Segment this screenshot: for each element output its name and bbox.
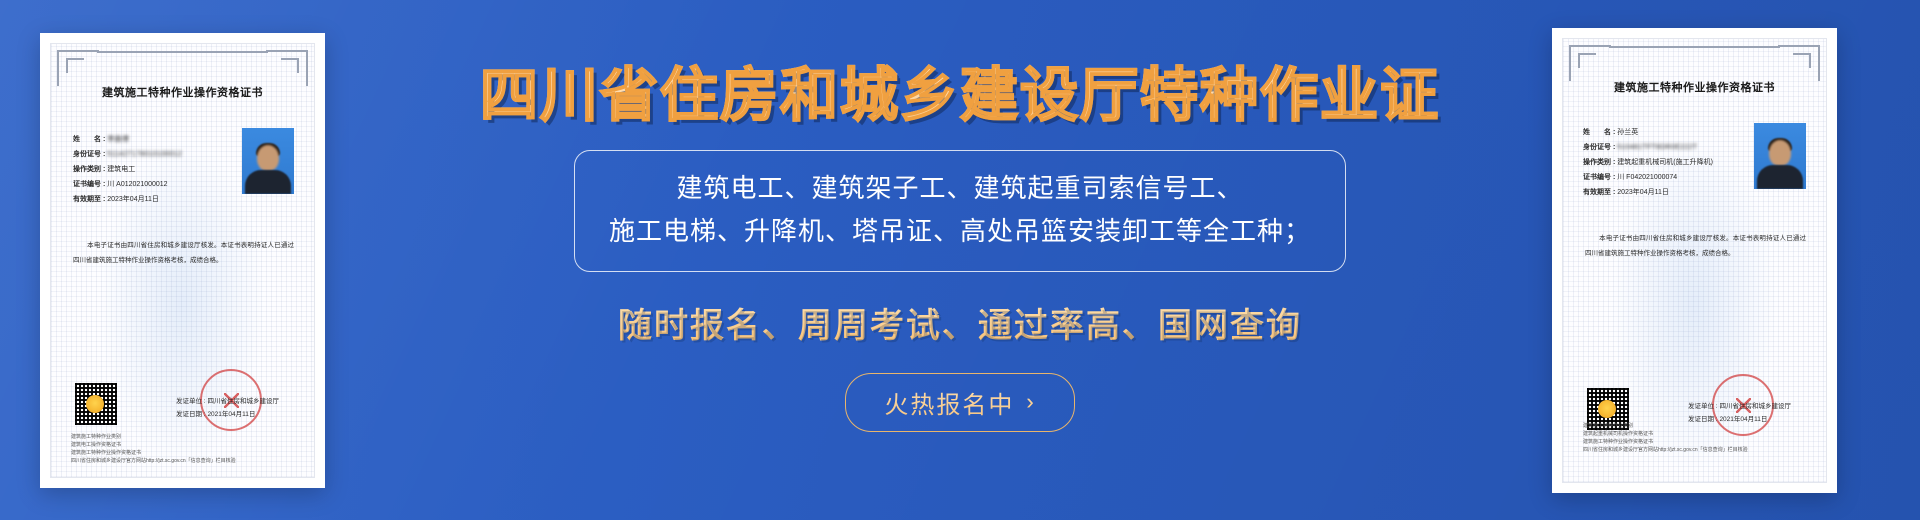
- certificate-inner-right: 建筑施工特种作业操作资格证书 姓 名 : 孙兰英 身份证号 : 510481TF…: [1562, 38, 1827, 483]
- field-label: 有效期至 :: [1583, 189, 1615, 196]
- footer-line: 建筑电工操作资格证书: [71, 441, 298, 449]
- course-list-box: 建筑电工、建筑架子工、建筑起重司索信号工、 施工电梯、升降机、塔吊证、高处吊篮安…: [574, 150, 1346, 272]
- slogan-text: 随时报名、周周考试、通过率高、国网查询: [618, 298, 1302, 347]
- photo-head: [1769, 140, 1791, 166]
- field-label: 有效期至 :: [73, 196, 105, 203]
- field-row: 操作类别 : 建筑电工: [73, 162, 223, 177]
- issue-date-row: 发证日期 : 2021年04月11日: [176, 408, 296, 421]
- certificate-card-right: 建筑施工特种作业操作资格证书 姓 名 : 孙兰英 身份证号 : 510481TF…: [1552, 28, 1837, 493]
- field-value: 2023年04月11日: [1617, 189, 1669, 196]
- field-label: 证书编号 :: [73, 181, 105, 188]
- certificate-fields-right: 姓 名 : 孙兰英 身份证号 : 510481TFT8DR0E222T 操作类别…: [1583, 125, 1738, 200]
- issuer-value: 四川省住房和城乡建设厅: [207, 398, 279, 405]
- field-value: 川 F042021000074: [1617, 174, 1677, 181]
- photo-body: [245, 170, 291, 194]
- footer-line: 建筑施工特种作业类别: [71, 433, 298, 441]
- certificate-disclaimer: 四川省住房和城乡建设厅官方网站http://jzt.sc.gov.cn「信息查询…: [1583, 446, 1810, 454]
- field-row: 姓 名 : 李曲律: [73, 132, 223, 147]
- certificate-issuer-left: 发证单位 : 四川省住房和城乡建设厅 发证日期 : 2021年04月11日: [176, 395, 296, 421]
- field-row: 操作类别 : 建筑起重机械司机(施工升降机): [1583, 155, 1738, 170]
- certificate-photo: [242, 128, 294, 194]
- ornament-corner-icon: [57, 50, 99, 86]
- field-label: 身份证号 :: [1583, 144, 1615, 151]
- certificate-paragraph-text: 本电子证书由四川省住房和城乡建设厅核发。本证书表明持证人已通过四川省建筑施工特种…: [73, 242, 294, 264]
- certificate-disclaimer: 四川省住房和城乡建设厅官方网站http://jzt.sc.gov.cn「信息查询…: [71, 457, 298, 465]
- banner-content: 四川省住房和城乡建设厅特种作业证 建筑电工、建筑架子工、建筑起重司索信号工、 施…: [360, 0, 1560, 520]
- footer-line: 建筑施工特种作业类别: [1583, 422, 1810, 430]
- certificate-footer-right: 建筑施工特种作业类别 建筑起重机械司机操作资格证书 建筑施工特种作业操作资格证书…: [1583, 422, 1810, 454]
- field-value: 510481TFT8DR0E222T: [1617, 144, 1697, 151]
- ornament-rule: [97, 51, 268, 53]
- field-label: 证书编号 :: [1583, 174, 1615, 181]
- certificate-paragraph-text: 本电子证书由四川省住房和城乡建设厅核发。本证书表明持证人已通过四川省建筑施工特种…: [1585, 235, 1806, 257]
- certificate-fields-left: 姓 名 : 李曲律 身份证号 : 511427178010100012 操作类别…: [73, 132, 223, 207]
- signup-cta-label: 火热报名中: [884, 385, 1014, 420]
- field-row: 身份证号 : 511427178010100012: [73, 147, 223, 162]
- certificate-title: 建筑施工特种作业操作资格证书: [1563, 79, 1826, 95]
- field-label: 身份证号 :: [73, 151, 105, 158]
- course-list-line: 施工电梯、升降机、塔吊证、高处吊篮安装卸工等全工种；: [609, 210, 1311, 253]
- photo-head: [257, 145, 279, 171]
- issuer-row: 发证单位 : 四川省住房和城乡建设厅: [1688, 400, 1808, 413]
- certificate-paragraph: 本电子证书由四川省住房和城乡建设厅核发。本证书表明持证人已通过四川省建筑施工特种…: [73, 239, 294, 269]
- field-label: 姓 名 :: [73, 136, 105, 143]
- certificate-card-left: 建筑施工特种作业操作资格证书 姓 名 : 李曲律 身份证号 : 51142717…: [40, 33, 325, 488]
- certificate-title: 建筑施工特种作业操作资格证书: [51, 84, 314, 100]
- ornament-corner-icon: [1778, 45, 1820, 81]
- ornament-corner-icon: [1569, 45, 1611, 81]
- footer-line: 建筑起重机械司机操作资格证书: [1583, 430, 1810, 438]
- page-title: 四川省住房和城乡建设厅特种作业证: [480, 64, 1440, 128]
- footer-line: 建筑施工特种作业操作资格证书: [1583, 438, 1810, 446]
- field-row: 证书编号 : 川 A012021000012: [73, 177, 223, 192]
- field-row: 有效期至 : 2023年04月11日: [73, 192, 223, 207]
- field-value: 建筑电工: [107, 166, 135, 173]
- ornament-rule: [1609, 46, 1780, 48]
- field-value: 建筑起重机械司机(施工升降机): [1617, 159, 1713, 166]
- field-label: 姓 名 :: [1583, 129, 1615, 136]
- issuer-value: 四川省住房和城乡建设厅: [1719, 403, 1791, 410]
- issuer-row: 发证单位 : 四川省住房和城乡建设厅: [176, 395, 296, 408]
- promo-banner: 建筑施工特种作业操作资格证书 姓 名 : 李曲律 身份证号 : 51142717…: [0, 0, 1920, 520]
- issue-date-value: 2021年04月11日: [207, 411, 255, 418]
- ornament-corner-icon: [266, 50, 308, 86]
- issuer-label: 发证单位 :: [1688, 403, 1718, 410]
- certificate-paragraph: 本电子证书由四川省住房和城乡建设厅核发。本证书表明持证人已通过四川省建筑施工特种…: [1585, 232, 1806, 262]
- field-row: 身份证号 : 510481TFT8DR0E222T: [1583, 140, 1738, 155]
- footer-line: 建筑施工特种作业操作资格证书: [71, 449, 298, 457]
- course-list-line: 建筑电工、建筑架子工、建筑起重司索信号工、: [609, 167, 1311, 210]
- qr-code: [75, 383, 117, 425]
- field-label: 操作类别 :: [1583, 159, 1615, 166]
- field-value: 511427178010100012: [107, 151, 182, 158]
- certificate-footer-left: 建筑施工特种作业类别 建筑电工操作资格证书 建筑施工特种作业操作资格证书 四川省…: [71, 433, 298, 465]
- field-row: 有效期至 : 2023年04月11日: [1583, 185, 1738, 200]
- signup-cta-button[interactable]: 火热报名中 ›: [845, 373, 1074, 432]
- certificate-inner-left: 建筑施工特种作业操作资格证书 姓 名 : 李曲律 身份证号 : 51142717…: [50, 43, 315, 478]
- field-value: 孙兰英: [1617, 129, 1638, 136]
- issue-date-label: 发证日期 :: [176, 411, 206, 418]
- issuer-label: 发证单位 :: [176, 398, 206, 405]
- certificate-photo: [1754, 123, 1806, 189]
- field-row: 姓 名 : 孙兰英: [1583, 125, 1738, 140]
- field-value: 2023年04月11日: [107, 196, 159, 203]
- chevron-right-icon: ›: [1026, 389, 1035, 415]
- photo-body: [1757, 165, 1803, 189]
- field-label: 操作类别 :: [73, 166, 105, 173]
- field-value: 李曲律: [107, 136, 129, 143]
- field-row: 证书编号 : 川 F042021000074: [1583, 170, 1738, 185]
- field-value: 川 A012021000012: [107, 181, 167, 188]
